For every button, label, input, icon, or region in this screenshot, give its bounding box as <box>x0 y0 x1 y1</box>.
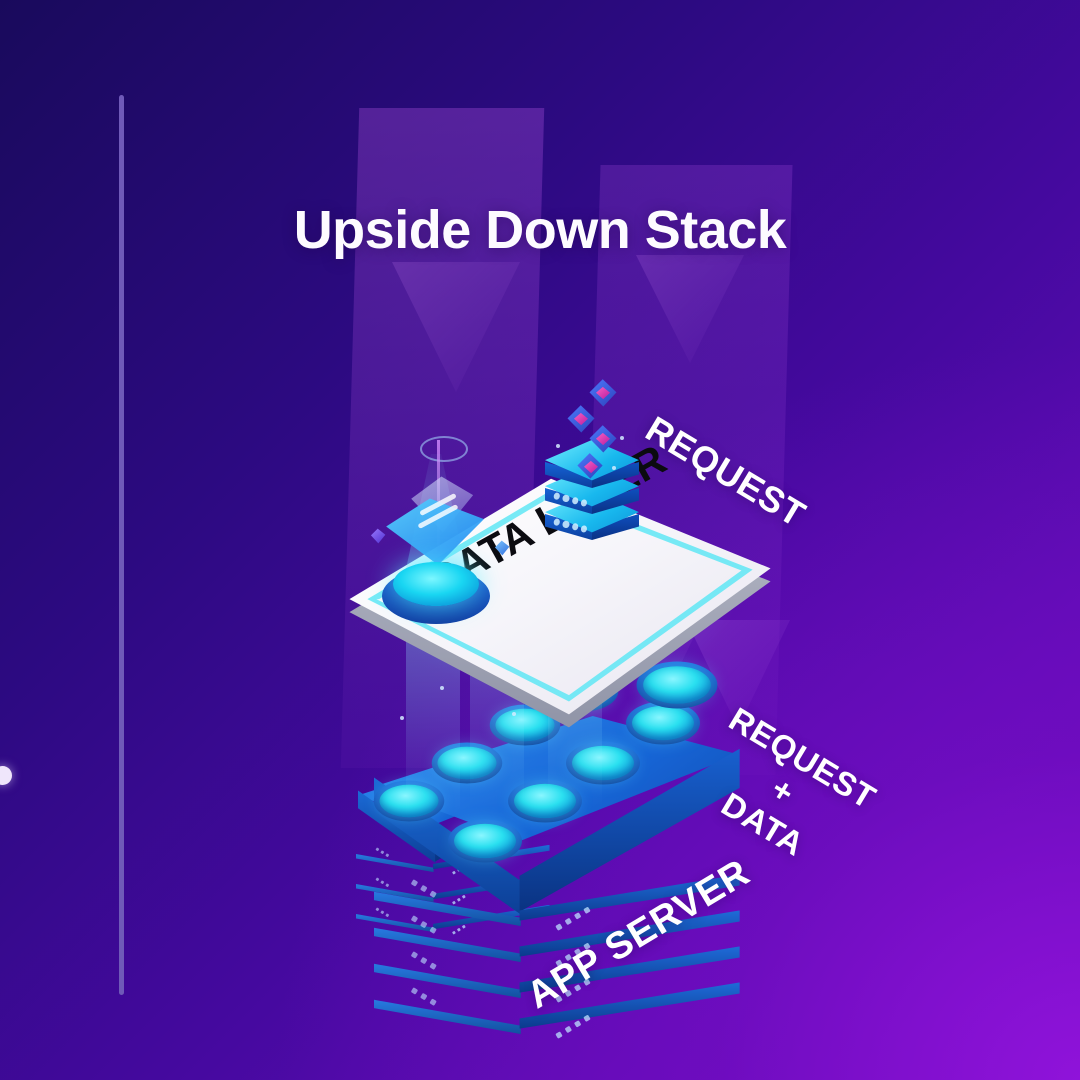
holographic-data-projector <box>374 436 510 626</box>
server-well <box>448 820 522 863</box>
data-spark <box>556 444 560 448</box>
isometric-diagram: DATA LAYER <box>0 0 1080 1080</box>
data-spark <box>620 436 624 440</box>
chip-icon <box>576 452 604 480</box>
slide-canvas: Upside Down Stack <box>0 0 1080 1080</box>
chip-icon <box>588 424 618 454</box>
data-spark <box>612 466 616 470</box>
